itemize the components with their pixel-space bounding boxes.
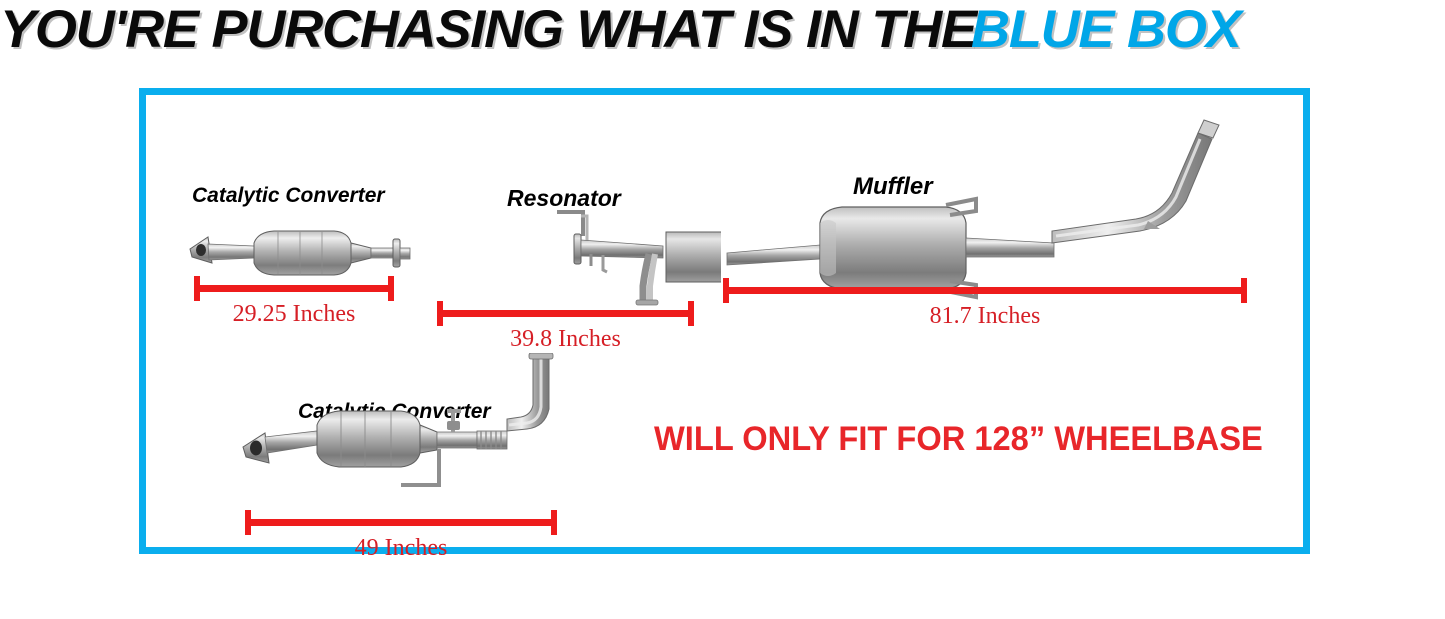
dimension-text-muffler: 81.7 Inches: [723, 304, 1247, 328]
headline-blue-text: BLUE BOX: [971, 3, 1241, 56]
dimension-bar-catalytic-converter-top: [194, 285, 394, 292]
art-resonator: [431, 210, 721, 310]
wheelbase-warning-text: WILL ONLY FIT FOR 128” WHEELBASE: [654, 422, 1263, 456]
label-resonator: Resonator: [507, 187, 621, 210]
dimension-bar-resonator: [437, 310, 694, 317]
dimension-text-catalytic-converter-top: 29.25 Inches: [194, 302, 394, 326]
blue-box-frame: Catalytic Converter: [139, 88, 1310, 554]
dimension-text-resonator: 39.8 Inches: [437, 327, 694, 351]
dimension-bar-muffler: [723, 287, 1247, 294]
dimension-bar-catalytic-converter-bottom: [245, 519, 557, 526]
headline-banner: YOU'RE PURCHASING WHAT IS IN THE BLUE BO…: [0, 0, 1445, 58]
label-catalytic-converter-top: Catalytic Converter: [192, 185, 385, 206]
art-catalytic-converter-top: [188, 223, 418, 285]
headline-black-text: YOU'RE PURCHASING WHAT IS IN THE: [0, 3, 976, 56]
art-muffler: [724, 105, 1274, 300]
art-catalytic-converter-bottom: [241, 353, 581, 518]
listing-image: YOU'RE PURCHASING WHAT IS IN THE BLUE BO…: [0, 0, 1445, 619]
dimension-text-catalytic-converter-bottom: 49 Inches: [245, 536, 557, 560]
